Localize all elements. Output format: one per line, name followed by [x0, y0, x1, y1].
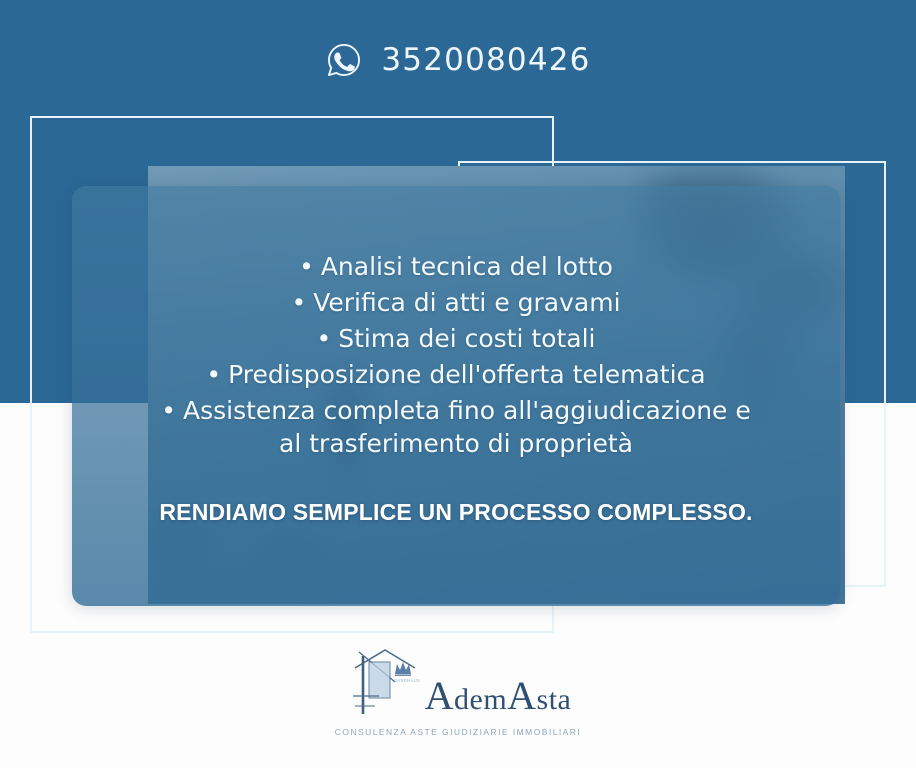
bullet-icon: • — [291, 288, 306, 317]
logo-letters-dem: dem — [454, 683, 507, 716]
bullet-icon: • — [206, 360, 221, 389]
logo-row: GARDHAUS AdemAsta — [345, 648, 572, 722]
logo-letter-a2: A — [507, 673, 536, 718]
bullet-icon: • — [299, 252, 314, 281]
services-card: •Analisi tecnica del lotto •Verifica di … — [72, 186, 840, 606]
svg-text:GARDHAUS: GARDHAUS — [394, 678, 420, 683]
bullet-icon: • — [161, 396, 176, 425]
tagline: RENDIAMO SEMPLICE UN PROCESSO COMPLESSO. — [159, 499, 752, 526]
list-item-label: Analisi tecnica del lotto — [321, 252, 613, 281]
poster-canvas: 3520080426 •Analisi tecnica del lotto •V… — [0, 0, 916, 768]
logo-letters-sta: sta — [537, 683, 572, 716]
house-building-icon: GARDHAUS — [345, 648, 429, 722]
list-item-label: Assistenza completa fino all'aggiudicazi… — [183, 396, 751, 458]
list-item-label: Predisposizione dell'offerta telematica — [228, 360, 706, 389]
brand-logo: GARDHAUS AdemAsta CONSULENZA ASTE GIUDIZ… — [0, 648, 916, 737]
whatsapp-icon[interactable] — [325, 41, 363, 79]
list-item: •Verifica di atti e gravami — [116, 286, 796, 319]
logo-wordmark: AdemAsta — [425, 676, 572, 716]
list-item: •Assistenza completa fino all'aggiudicaz… — [116, 394, 796, 460]
list-item: •Predisposizione dell'offerta telematica — [116, 358, 796, 391]
list-item: •Analisi tecnica del lotto — [116, 250, 796, 283]
list-item: •Stima dei costi totali — [116, 322, 796, 355]
logo-subtitle: CONSULENZA ASTE GIUDIZIARIE IMMOBILIARI — [335, 727, 581, 737]
bullet-icon: • — [316, 324, 331, 353]
phone-number[interactable]: 3520080426 — [381, 42, 590, 78]
list-item-label: Verifica di atti e gravami — [313, 288, 620, 317]
list-item-label: Stima dei costi totali — [338, 324, 595, 353]
logo-letter-a1: A — [425, 673, 454, 718]
services-list: •Analisi tecnica del lotto •Verifica di … — [116, 250, 796, 463]
contact-header: 3520080426 — [0, 32, 916, 88]
